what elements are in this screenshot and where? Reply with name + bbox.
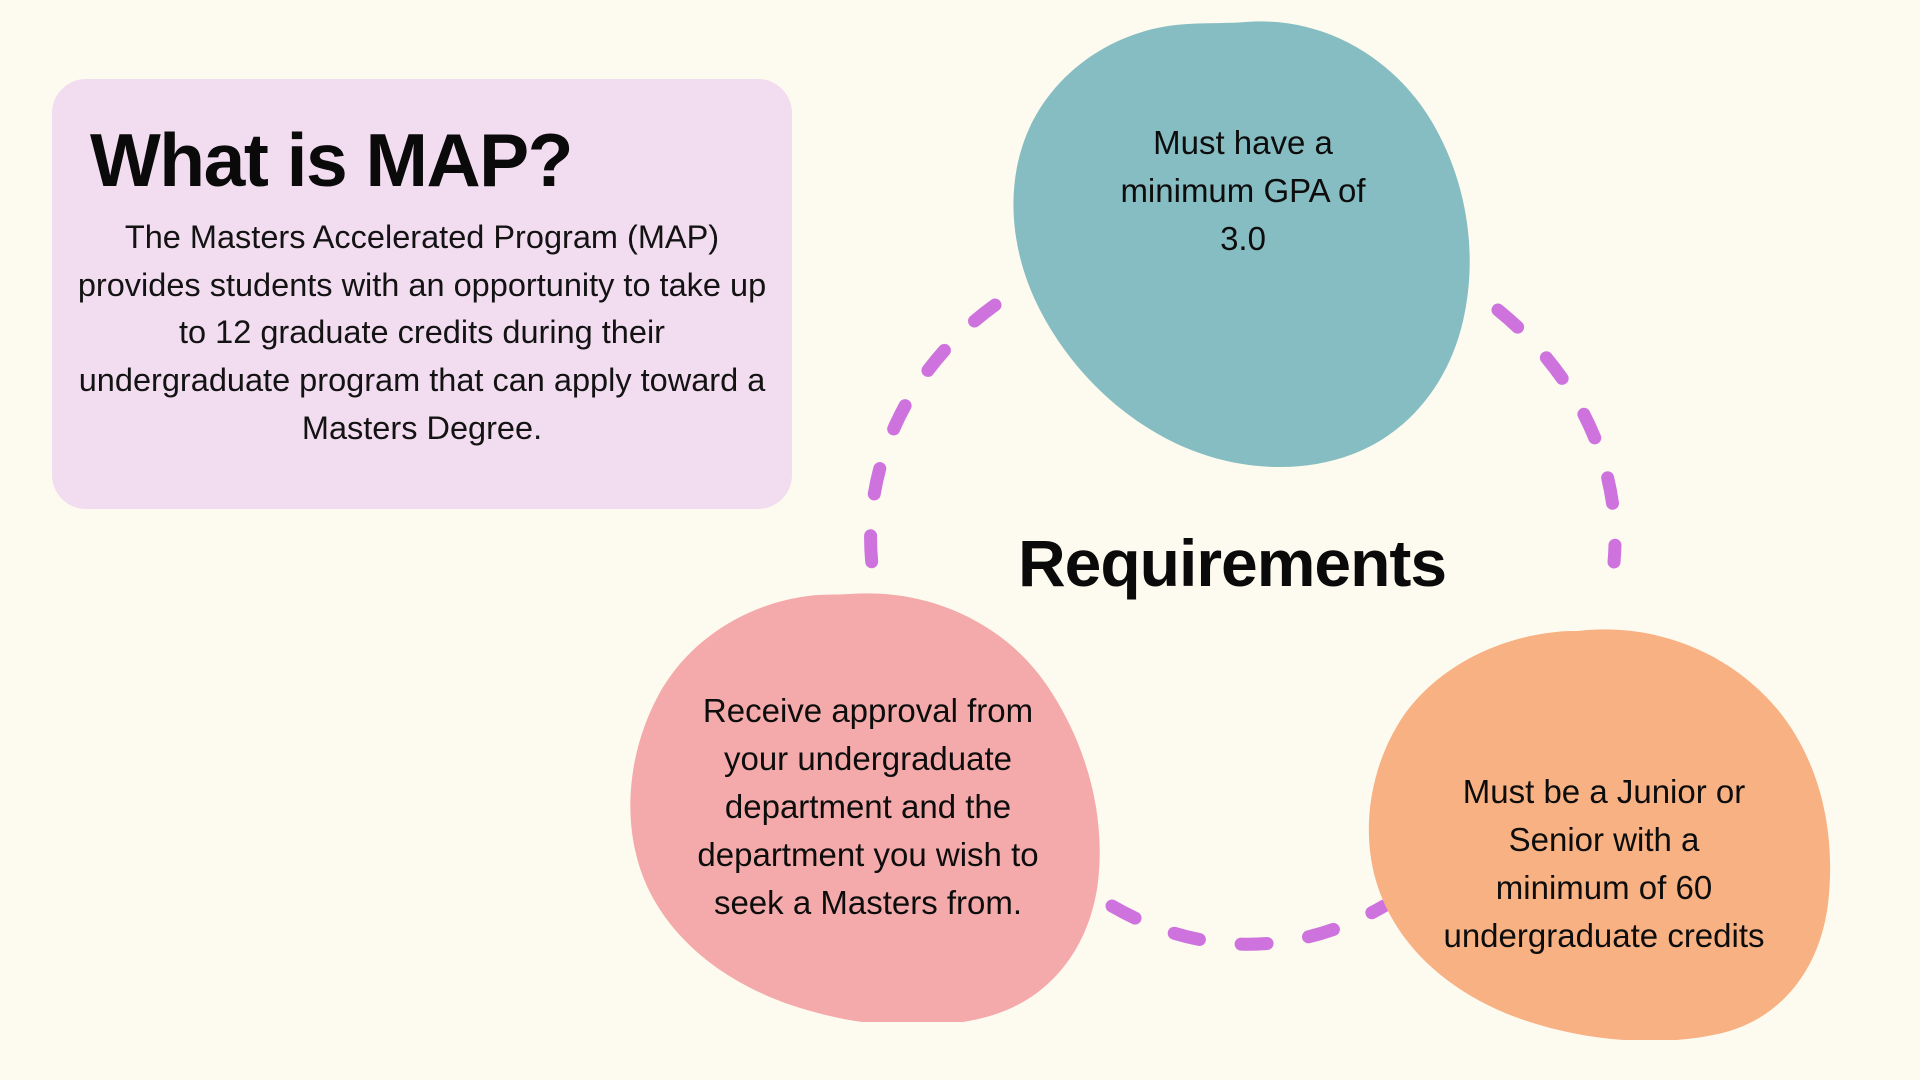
- info-card: What is MAP? The Masters Accelerated Pro…: [52, 79, 792, 509]
- requirement-blob-minimum-gpa: Must have a minimum GPA of 3.0: [1008, 18, 1478, 468]
- requirement-text-department-approval: Receive approval from your undergraduate…: [628, 592, 1108, 1022]
- info-card-body: The Masters Accelerated Program (MAP) pr…: [72, 214, 772, 453]
- connector-arc-bottom: [1112, 906, 1384, 944]
- infographic-canvas: What is MAP? The Masters Accelerated Pro…: [0, 0, 1920, 1080]
- requirement-text-minimum-gpa: Must have a minimum GPA of 3.0: [1008, 18, 1478, 468]
- connector-arc-right: [1498, 310, 1615, 562]
- connector-arc-left: [871, 305, 995, 565]
- requirement-blob-class-standing: Must be a Junior or Senior with a minimu…: [1366, 628, 1836, 1040]
- requirement-blob-department-approval: Receive approval from your undergraduate…: [628, 592, 1108, 1022]
- info-card-title: What is MAP?: [80, 121, 572, 200]
- requirements-heading: Requirements: [1018, 525, 1446, 601]
- requirement-text-class-standing: Must be a Junior or Senior with a minimu…: [1366, 628, 1836, 1040]
